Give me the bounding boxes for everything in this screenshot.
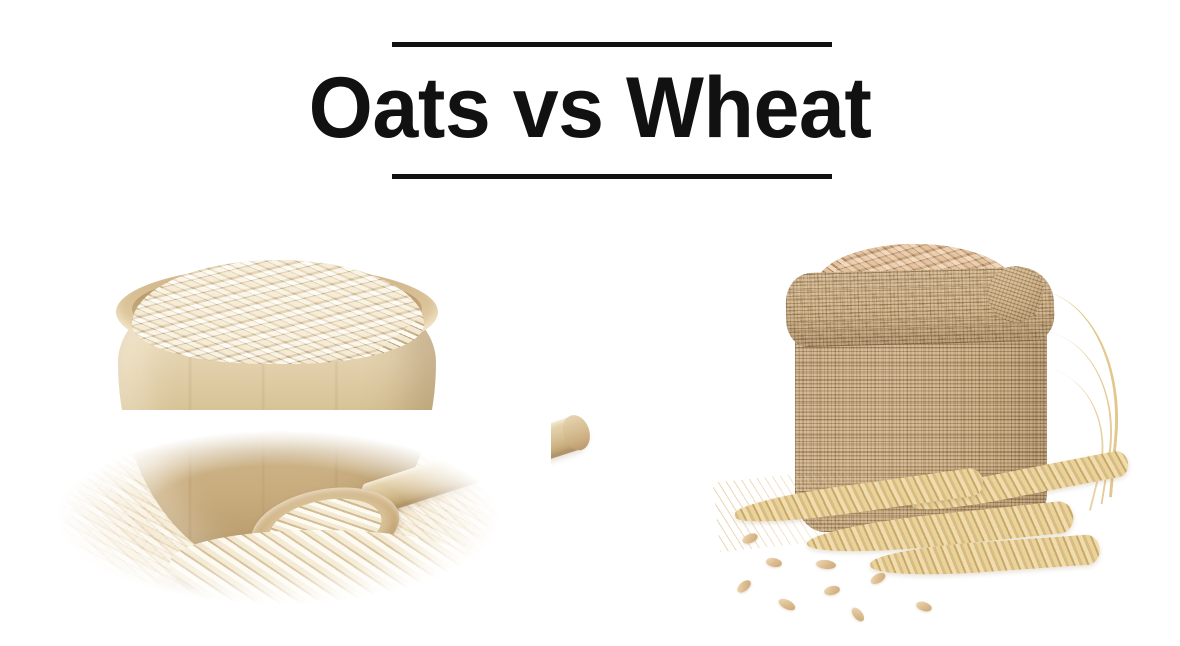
wheat-ears-group <box>710 466 1140 616</box>
page-title: Oats vs Wheat <box>24 58 1157 158</box>
title-rule-bottom-icon <box>392 174 832 179</box>
title-block: Oats vs Wheat <box>0 0 1180 200</box>
oats-photo: Bamboo bowl filled with rolled oats, loo… <box>20 230 610 630</box>
image-canvas: Oats vs Wheat Bamboo bowl filled with ro… <box>0 0 1180 646</box>
oats-overlapping-spoon <box>170 530 470 610</box>
wheat-photo: Burlap hessian sack filled with wheat gr… <box>720 230 1180 630</box>
title-rule-top-icon <box>392 42 832 47</box>
oats-in-bowl <box>132 260 424 364</box>
